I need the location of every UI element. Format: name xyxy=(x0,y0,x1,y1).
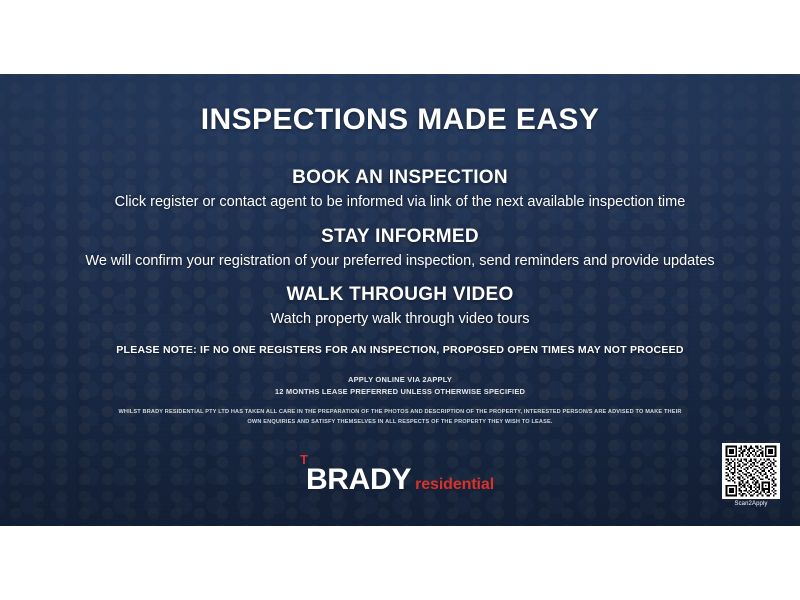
disclaimer-line-1: WHILST BRADY RESIDENTIAL PTY LTD HAS TAK… xyxy=(60,408,740,418)
section-subtitle-walk: Watch property walk through video tours xyxy=(0,310,800,330)
section-subtitle-stay: We will confirm your registration of you… xyxy=(0,252,800,272)
apply-info-block: APPLY ONLINE VIA 2APPLY 12 MONTHS LEASE … xyxy=(0,374,800,397)
section-title-book: BOOK AN INSPECTION xyxy=(0,166,800,190)
page-title: INSPECTIONS MADE EASY xyxy=(0,103,800,137)
logo-tick-mark: T xyxy=(300,453,307,466)
legal-disclaimer: WHILST BRADY RESIDENTIAL PTY LTD HAS TAK… xyxy=(60,408,740,428)
qr-code-label: Scan2Apply xyxy=(722,501,780,507)
brady-residential-logo: T BRADY residential xyxy=(0,465,800,499)
apply-online-line: APPLY ONLINE VIA 2APPLY xyxy=(0,374,800,386)
section-title-walk: WALK THROUGH VIDEO xyxy=(0,283,800,307)
disclaimer-line-2: OWN ENQUIRIES AND SATISFY THEMSELVES IN … xyxy=(60,418,740,428)
scan-to-apply-block[interactable]: Scan2Apply xyxy=(722,443,780,507)
section-stay-informed: STAY INFORMED We will confirm your regis… xyxy=(0,225,800,271)
qr-code-icon[interactable] xyxy=(722,443,780,499)
poster-canvas: INSPECTIONS MADE EASY BOOK AN INSPECTION… xyxy=(0,0,800,600)
section-book-an-inspection: BOOK AN INSPECTION Click register or con… xyxy=(0,166,800,212)
logo-secondary-text: residential xyxy=(415,477,494,493)
inspection-poster-panel: INSPECTIONS MADE EASY BOOK AN INSPECTION… xyxy=(0,74,800,526)
please-note-text: PLEASE NOTE: IF NO ONE REGISTERS FOR AN … xyxy=(0,344,800,356)
section-title-stay: STAY INFORMED xyxy=(0,225,800,249)
section-subtitle-book: Click register or contact agent to be in… xyxy=(0,193,800,213)
poster-content: INSPECTIONS MADE EASY BOOK AN INSPECTION… xyxy=(0,74,800,526)
section-walk-through-video: WALK THROUGH VIDEO Watch property walk t… xyxy=(0,283,800,329)
logo-primary-text: BRADY xyxy=(306,465,411,495)
lease-term-line: 12 MONTHS LEASE PREFERRED UNLESS OTHERWI… xyxy=(0,386,800,398)
